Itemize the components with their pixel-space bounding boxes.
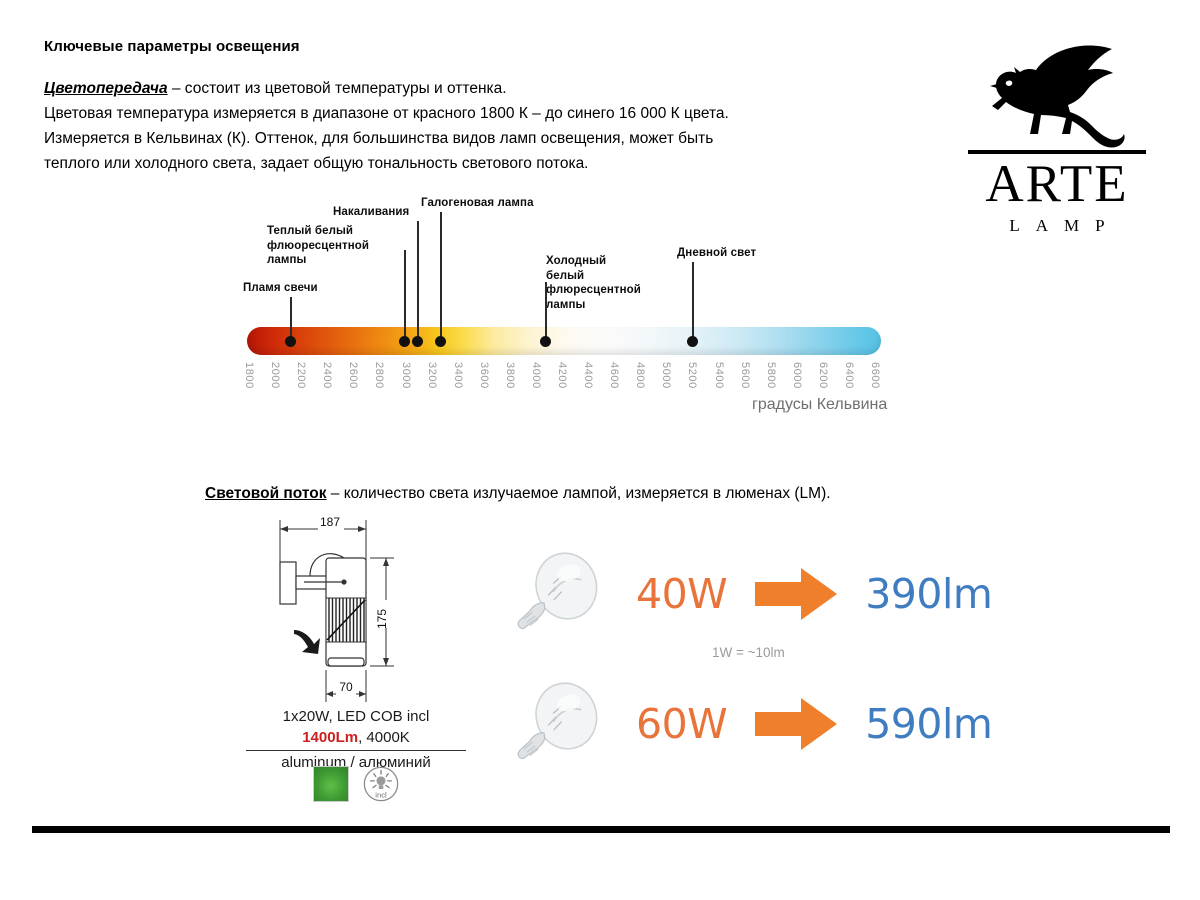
kelvin-tick-label: 4000: [530, 362, 542, 389]
kelvin-tick-label: 3600: [478, 362, 490, 389]
marker-warm-white-fluorescent: [399, 336, 410, 347]
kelvin-tick-label: 3200: [426, 362, 438, 389]
callout-line: флюресцентной: [546, 283, 641, 298]
page-title: Ключевые параметры освещения: [44, 38, 300, 55]
kelvin-tick-label: 2000: [269, 362, 281, 389]
callout-line: флюоресцентной: [267, 239, 369, 254]
winged-lion-icon: [966, 40, 1156, 155]
spec-power: 1x20W, LED COB incl: [246, 706, 466, 727]
kelvin-tick-label: 5000: [660, 362, 672, 389]
lumen-label-1: 390lm: [865, 570, 992, 618]
color-swatch-green-icon: [313, 766, 349, 802]
callout-line: Пламя свечи: [243, 281, 318, 296]
callout-incandescent: Накаливания: [333, 205, 409, 220]
marker-candle-flame: [285, 336, 296, 347]
callout-line: Дневной свет: [677, 246, 756, 261]
kelvin-tick-label: 2200: [295, 362, 307, 389]
incandescent-bulb-icon: [492, 548, 614, 640]
callout-line: лампы: [546, 298, 641, 313]
arrow-right-icon: [753, 564, 839, 624]
flux-comparison-row-1: 40W 390lm: [492, 548, 992, 640]
leader-line-cool-white-fluorescent: [545, 282, 547, 337]
kelvin-tick-label: 4800: [634, 362, 646, 389]
callout-line: лампы: [267, 253, 369, 268]
intro-paragraph: Цветопередача – состоит из цветовой темп…: [44, 76, 864, 176]
kelvin-tick-label: 1800: [243, 362, 255, 389]
logo-sub-text: LAMP: [962, 216, 1152, 236]
spec-color-temp: , 4000K: [358, 729, 410, 746]
intro-line-3: Измеряется в Кельвинах (К). Оттенок, для…: [44, 126, 864, 151]
callout-line: Галогеновая лампа: [421, 196, 534, 211]
marker-incandescent: [412, 336, 423, 347]
kelvin-tick-label: 6000: [791, 362, 803, 389]
footer-divider: [32, 826, 1170, 833]
intro-line-1-rest: – состоит из цветовой температуры и отте…: [168, 80, 507, 97]
brand-logo: ARTE LAMP: [962, 34, 1162, 214]
kelvin-tick-label: 2600: [347, 362, 359, 389]
kelvin-tick-label: 5200: [686, 362, 698, 389]
incl-label: incl: [375, 791, 387, 800]
marker-halogen: [435, 336, 446, 347]
wattage-label-1: 40W: [636, 570, 727, 618]
logo-divider: [968, 150, 1146, 154]
kelvin-tick-label: 3800: [504, 362, 516, 389]
leader-line-halogen: [440, 212, 442, 338]
temperature-gradient-bar: [247, 327, 881, 355]
callout-line: Холодный: [546, 254, 641, 269]
dimension-height-text: 175: [375, 609, 389, 629]
bulb-included-icon: incl: [363, 766, 399, 802]
leader-line-warm-white-fluorescent: [404, 250, 406, 338]
product-attributes-row: incl: [246, 766, 466, 802]
spec-lumens-line: 1400Lm, 4000K: [246, 727, 466, 748]
product-spec-block: 1x20W, LED COB incl 1400Lm, 4000K alumin…: [246, 706, 466, 773]
kelvin-tick-label: 2800: [373, 362, 385, 389]
kelvin-tick-label: 5600: [739, 362, 751, 389]
intro-line-4: теплого или холодного света, задает общу…: [44, 151, 864, 176]
callout-candle-flame: Пламя свечи: [243, 281, 318, 296]
conversion-note: 1W = ~10lm: [712, 645, 785, 660]
flux-heading-rest: – количество света излучаемое лампой, из…: [326, 485, 830, 502]
term-color-rendering: Цветопередача: [44, 80, 168, 97]
wattage-label-2: 60W: [636, 700, 727, 748]
leader-line-candle-flame: [290, 297, 292, 336]
kelvin-tick-label: 3400: [452, 362, 464, 389]
kelvin-tick-label: 4200: [556, 362, 568, 389]
marker-daylight: [687, 336, 698, 347]
intro-line-1: Цветопередача – состоит из цветовой темп…: [44, 76, 864, 101]
callout-daylight: Дневной свет: [677, 246, 756, 261]
kelvin-tick-label: 4400: [582, 362, 594, 389]
callout-line: белый: [546, 269, 641, 284]
marker-cool-white-fluorescent: [540, 336, 551, 347]
dimension-width-text: 187: [320, 515, 340, 529]
leader-line-daylight: [692, 262, 694, 337]
arrow-right-icon: [753, 694, 839, 754]
callout-line: Теплый белый: [267, 224, 369, 239]
flux-comparison-row-2: 60W 590lm: [492, 678, 992, 770]
kelvin-tick-label: 2400: [321, 362, 333, 389]
kelvin-tick-label: 6400: [843, 362, 855, 389]
logo-brand-text: ARTE: [962, 158, 1152, 211]
kelvin-tick-label: 6600: [869, 362, 881, 389]
callout-line: Накаливания: [333, 205, 409, 220]
kelvin-tick-label: 5400: [713, 362, 725, 389]
callout-halogen: Галогеновая лампа: [421, 196, 534, 211]
kelvin-axis-label: градусы Кельвина: [752, 396, 887, 414]
kelvin-tick-label: 3000: [400, 362, 412, 389]
lumen-label-2: 590lm: [865, 700, 992, 748]
term-luminous-flux: Световой поток: [205, 485, 326, 502]
spec-lumens-value: 1400Lm: [302, 729, 358, 746]
intro-line-2: Цветовая температура измеряется в диапаз…: [44, 101, 864, 126]
dimension-depth-text: 70: [339, 680, 353, 694]
flux-heading: Световой поток – количество света излуча…: [205, 485, 831, 503]
kelvin-tick-label: 6200: [817, 362, 829, 389]
kelvin-tick-label: 4600: [608, 362, 620, 389]
leader-line-incandescent: [417, 221, 419, 338]
incandescent-bulb-icon: [492, 678, 614, 770]
callout-cool-white-fluorescent: Холодный белый флюресцентной лампы: [546, 254, 641, 312]
kelvin-tick-label: 5800: [765, 362, 777, 389]
wall-lamp-drawing: 187: [258, 512, 454, 712]
callout-warm-white-fluorescent: Теплый белый флюоресцентной лампы: [267, 224, 369, 268]
